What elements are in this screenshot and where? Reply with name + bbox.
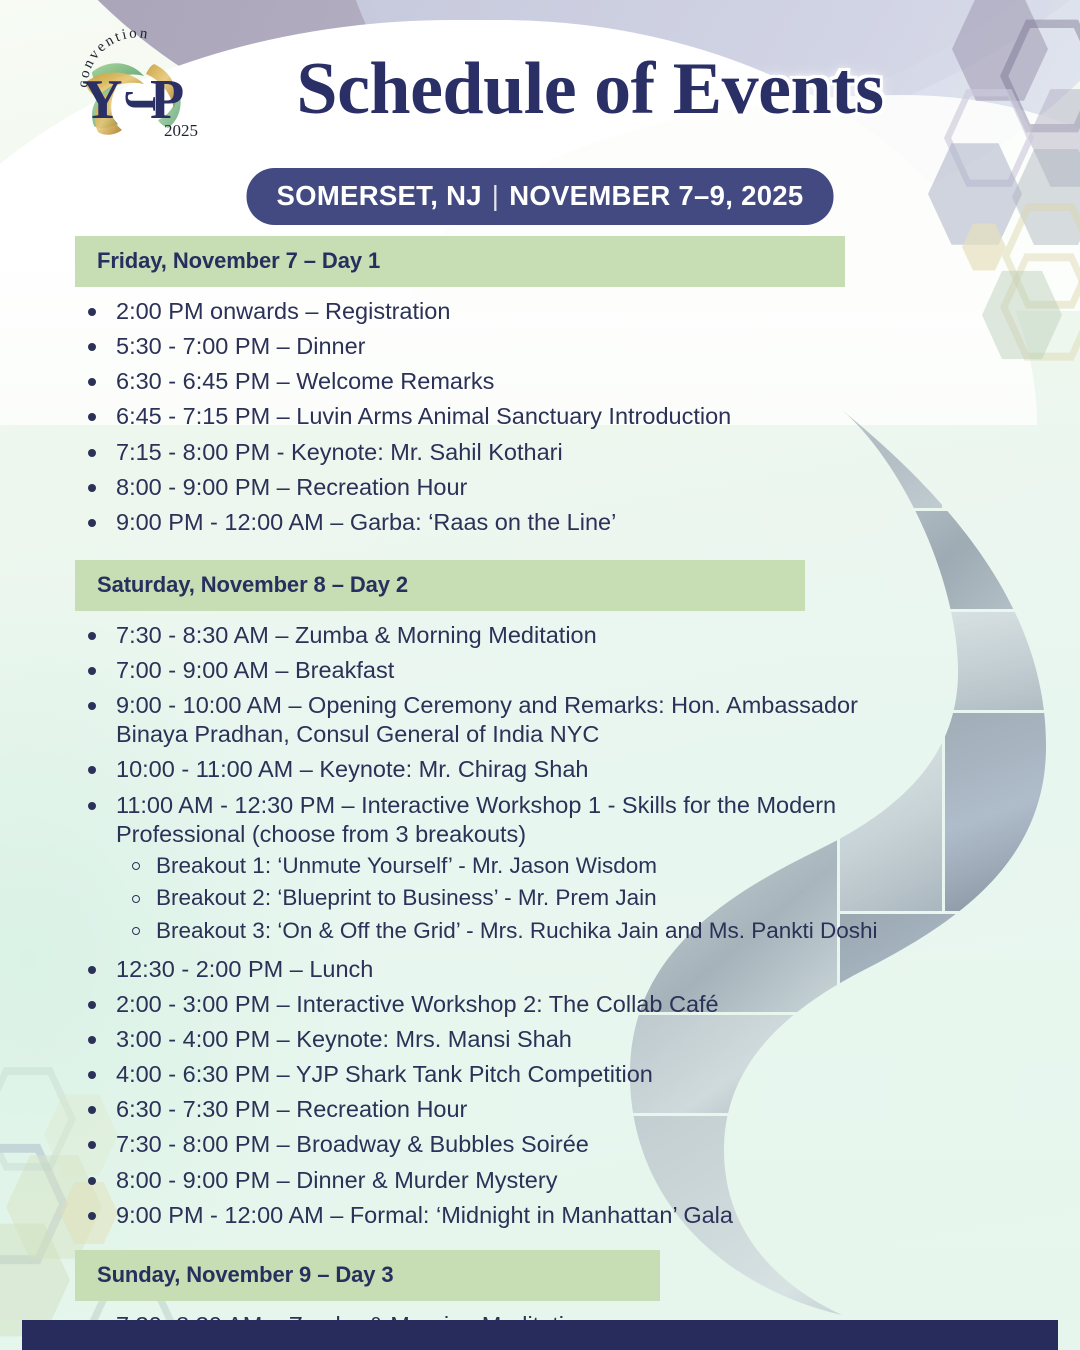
schedule-item: 8:00 - 9:00 PM – Dinner & Murder Mystery bbox=[0, 1166, 916, 1201]
schedule-item: 6:45 - 7:15 PM – Luvin Arms Animal Sanct… bbox=[0, 402, 916, 437]
hexagon-icon bbox=[952, 0, 1048, 104]
breakout-item: Breakout 1: ‘Unmute Yourself’ - Mr. Jaso… bbox=[116, 851, 916, 884]
bullet-icon bbox=[88, 1177, 96, 1185]
bullet-icon bbox=[88, 413, 96, 421]
poster-canvas: Y J P convention 2025 Schedule of Events… bbox=[0, 0, 1080, 1350]
schedule-item-text: 9:00 - 10:00 AM – Opening Ceremony and R… bbox=[116, 692, 858, 747]
schedule-item-text: 7:15 - 8:00 PM - Keynote: Mr. Sahil Koth… bbox=[116, 439, 563, 465]
schedule-item: 2:00 - 3:00 PM – Interactive Workshop 2:… bbox=[0, 990, 916, 1025]
breakout-item: Breakout 2: ‘Blueprint to Business’ - Mr… bbox=[116, 883, 916, 916]
bullet-icon bbox=[88, 802, 96, 810]
bullet-icon bbox=[88, 766, 96, 774]
schedule-item: 7:30 - 8:30 AM – Zumba & Morning Meditat… bbox=[0, 621, 916, 656]
day-header-2: Saturday, November 8 – Day 2 bbox=[75, 560, 805, 611]
day-header-1: Friday, November 7 – Day 1 bbox=[75, 236, 845, 287]
bullet-icon bbox=[88, 519, 96, 527]
schedule-item: 5:30 - 7:00 PM – Dinner bbox=[0, 332, 916, 367]
bullet-hollow-icon bbox=[132, 927, 140, 935]
schedule-item: 6:30 - 7:30 PM – Recreation Hour bbox=[0, 1095, 916, 1130]
badge-dates: NOVEMBER 7–9, 2025 bbox=[509, 180, 803, 211]
svg-text:2025: 2025 bbox=[164, 121, 198, 140]
schedule-item: 9:00 PM - 12:00 AM – Formal: ‘Midnight i… bbox=[0, 1201, 916, 1236]
schedule-list: Friday, November 7 – Day 1 2:00 PM onwar… bbox=[0, 236, 1080, 1350]
schedule-item-text: 9:00 PM - 12:00 AM – Garba: ‘Raas on the… bbox=[116, 509, 616, 535]
breakout-item-text: Breakout 3: ‘On & Off the Grid’ - Mrs. R… bbox=[156, 918, 878, 943]
bullet-icon bbox=[88, 308, 96, 316]
schedule-item: 3:00 - 4:00 PM – Keynote: Mrs. Mansi Sha… bbox=[0, 1025, 916, 1060]
bullet-icon bbox=[88, 449, 96, 457]
schedule-item-text: 11:00 AM - 12:30 PM – Interactive Worksh… bbox=[116, 792, 836, 847]
bullet-icon bbox=[88, 702, 96, 710]
schedule-item: 7:30 - 8:00 PM – Broadway & Bubbles Soir… bbox=[0, 1130, 916, 1165]
schedule-item-text: 6:30 - 6:45 PM – Welcome Remarks bbox=[116, 368, 494, 394]
schedule-item: 9:00 PM - 12:00 AM – Garba: ‘Raas on the… bbox=[0, 508, 916, 543]
bullet-hollow-icon bbox=[132, 895, 140, 903]
schedule-item-text: 5:30 - 7:00 PM – Dinner bbox=[116, 333, 366, 359]
breakout-item-text: Breakout 1: ‘Unmute Yourself’ - Mr. Jaso… bbox=[156, 853, 657, 878]
bullet-icon bbox=[88, 1212, 96, 1220]
schedule-item-text: 2:00 PM onwards – Registration bbox=[116, 298, 450, 324]
date-location-badge: SOMERSET, NJ | NOVEMBER 7–9, 2025 bbox=[247, 168, 834, 225]
page-title: Schedule of Events bbox=[250, 52, 930, 126]
bullet-icon bbox=[88, 343, 96, 351]
bullet-icon bbox=[88, 667, 96, 675]
schedule-item-text: 3:00 - 4:00 PM – Keynote: Mrs. Mansi Sha… bbox=[116, 1026, 572, 1052]
schedule-item: 2:00 PM onwards – Registration bbox=[0, 297, 916, 332]
bullet-icon bbox=[88, 1106, 96, 1114]
schedule-item-text: 4:00 - 6:30 PM – YJP Shark Tank Pitch Co… bbox=[116, 1061, 653, 1087]
schedule-item-text: 6:30 - 7:30 PM – Recreation Hour bbox=[116, 1096, 467, 1122]
schedule-item-text: 7:30 - 8:00 PM – Broadway & Bubbles Soir… bbox=[116, 1131, 589, 1157]
schedule-item-text: 7:30 - 8:30 AM – Zumba & Morning Meditat… bbox=[116, 622, 597, 648]
breakout-item: Breakout 3: ‘On & Off the Grid’ - Mrs. R… bbox=[116, 916, 916, 949]
schedule-item: 8:00 - 9:00 PM – Recreation Hour bbox=[0, 473, 916, 508]
schedule-item-text: 10:00 - 11:00 AM – Keynote: Mr. Chirag S… bbox=[116, 756, 588, 782]
day-1-items: 2:00 PM onwards – Registration 5:30 - 7:… bbox=[0, 287, 1080, 543]
schedule-item-text: 8:00 - 9:00 PM – Recreation Hour bbox=[116, 474, 467, 500]
schedule-item-text: 12:30 - 2:00 PM – Lunch bbox=[116, 956, 373, 982]
schedule-item-text: 7:00 - 9:00 AM – Breakfast bbox=[116, 657, 394, 683]
schedule-item: 9:00 - 10:00 AM – Opening Ceremony and R… bbox=[0, 691, 916, 755]
bullet-icon bbox=[88, 1001, 96, 1009]
schedule-item: 11:00 AM - 12:30 PM – Interactive Worksh… bbox=[0, 791, 916, 955]
footer-bar bbox=[22, 1320, 1058, 1350]
bullet-icon bbox=[88, 484, 96, 492]
schedule-item-text: 2:00 - 3:00 PM – Interactive Workshop 2:… bbox=[116, 991, 719, 1017]
bullet-icon bbox=[88, 1036, 96, 1044]
schedule-item: 7:15 - 8:00 PM - Keynote: Mr. Sahil Koth… bbox=[0, 438, 916, 473]
bullet-icon bbox=[88, 966, 96, 974]
bullet-icon bbox=[88, 378, 96, 386]
schedule-item: 7:00 - 9:00 AM – Breakfast bbox=[0, 656, 916, 691]
schedule-item-text: 6:45 - 7:15 PM – Luvin Arms Animal Sanct… bbox=[116, 403, 731, 429]
badge-location: SOMERSET, NJ bbox=[277, 180, 482, 211]
schedule-item-text: 8:00 - 9:00 PM – Dinner & Murder Mystery bbox=[116, 1167, 557, 1193]
schedule-item: 12:30 - 2:00 PM – Lunch bbox=[0, 955, 916, 990]
schedule-item: 4:00 - 6:30 PM – YJP Shark Tank Pitch Co… bbox=[0, 1060, 916, 1095]
bullet-icon bbox=[88, 632, 96, 640]
schedule-item-text: 9:00 PM - 12:00 AM – Formal: ‘Midnight i… bbox=[116, 1202, 733, 1228]
breakout-item-text: Breakout 2: ‘Blueprint to Business’ - Mr… bbox=[156, 885, 657, 910]
day-block-2: Saturday, November 8 – Day 2 7:30 - 8:30… bbox=[0, 560, 1080, 1236]
badge-separator: | bbox=[490, 180, 501, 211]
bullet-icon bbox=[88, 1141, 96, 1149]
bullet-icon bbox=[88, 1071, 96, 1079]
bullet-hollow-icon bbox=[132, 862, 140, 870]
day-block-1: Friday, November 7 – Day 1 2:00 PM onwar… bbox=[0, 236, 1080, 543]
day-header-3: Sunday, November 9 – Day 3 bbox=[75, 1250, 660, 1301]
yjp-convention-logo: Y J P convention 2025 bbox=[58, 28, 218, 150]
day-2-items: 7:30 - 8:30 AM – Zumba & Morning Meditat… bbox=[0, 611, 1080, 1236]
schedule-item: 6:30 - 6:45 PM – Welcome Remarks bbox=[0, 367, 916, 402]
breakout-list: Breakout 1: ‘Unmute Yourself’ - Mr. Jaso… bbox=[116, 851, 916, 949]
schedule-item: 10:00 - 11:00 AM – Keynote: Mr. Chirag S… bbox=[0, 755, 916, 790]
